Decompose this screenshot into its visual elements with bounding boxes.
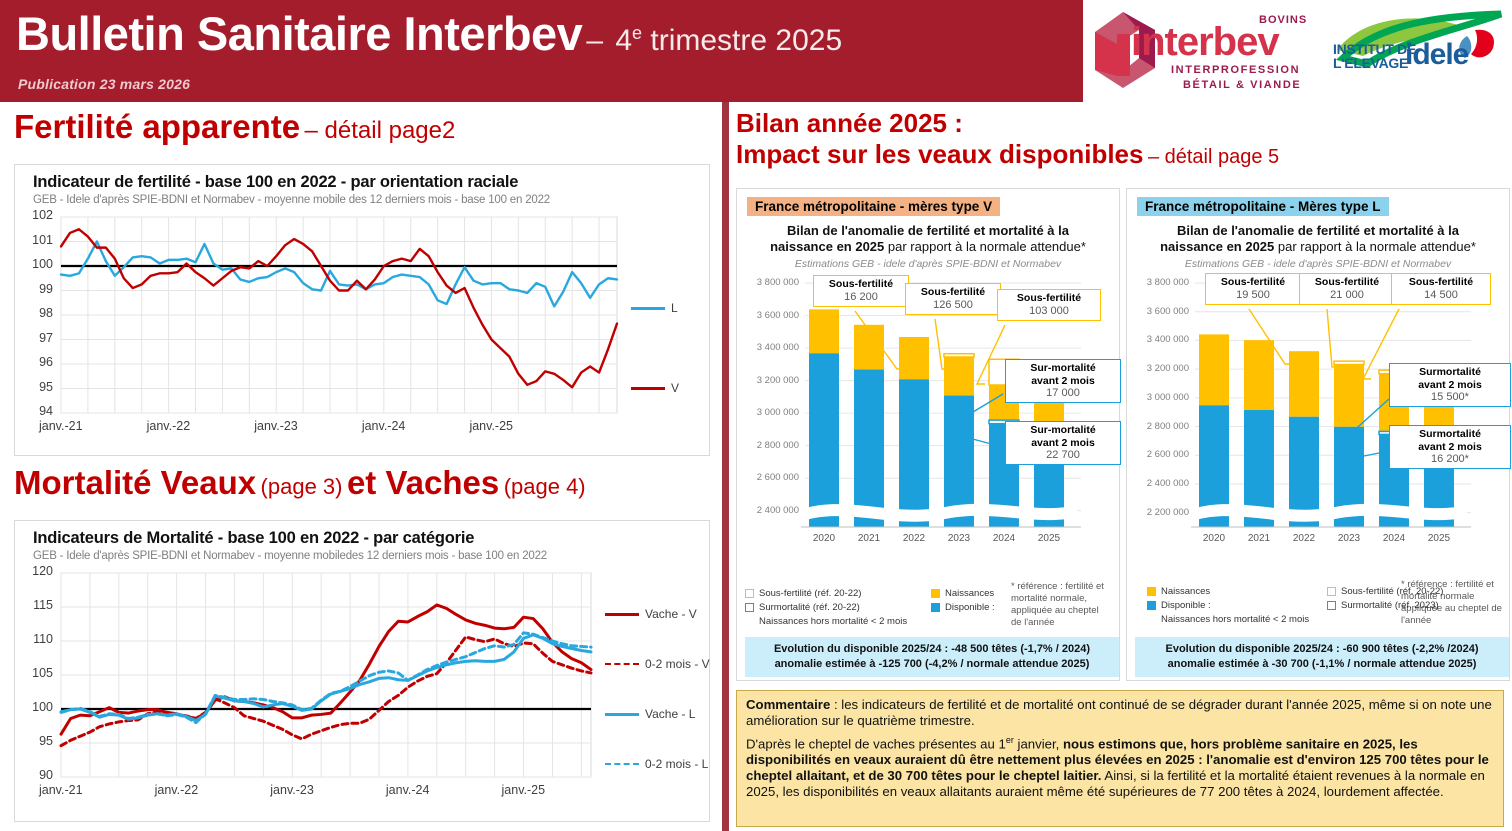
interbev-wordmark: interbev (1131, 20, 1279, 65)
panel-v-evolution-l1: Evolution du disponible 2025/24 : -48 50… (749, 642, 1115, 657)
callout-value: 14 500 (1397, 289, 1485, 302)
callout-value: 126 500 (911, 299, 995, 312)
mortalite-xtick: janv.-21 (39, 783, 83, 797)
fertilite-ytick: 102 (15, 208, 53, 222)
legend-swatch-icon (745, 603, 754, 612)
mortalite-legend-item[interactable]: 0-2 mois - V (605, 657, 710, 671)
mortalite-ytick: 120 (15, 564, 53, 578)
legend-swatch-icon (1327, 601, 1336, 610)
section-title-bilan: Bilan année 2025 : Impact sur les veaux … (736, 108, 1279, 170)
legend-item-2[interactable]: Naissances (931, 587, 1113, 601)
legend-item-0[interactable]: Naissances (1147, 585, 1323, 599)
mortalite-ytick: 115 (15, 598, 53, 612)
fertilite-svg (15, 209, 709, 449)
legend-grid: Sous-fertilité (réf. 20-22)NaissancesSur… (745, 587, 1113, 615)
bilan-v-ytick: 2 800 000 (737, 440, 799, 451)
callout-title2: avant 2 mois (1011, 437, 1115, 450)
bilan-v-xcat: 2021 (848, 533, 890, 544)
callout-value: 15 500* (1395, 391, 1505, 404)
bar-segment-disponible (899, 379, 929, 527)
mortalite-legend-item[interactable]: Vache - V (605, 607, 697, 621)
legend-swatch-icon (605, 613, 639, 616)
callout-title: Surmortalité (1395, 428, 1505, 441)
callout-sous-fertilite-2024: Sous-fertilité126 500 (905, 283, 1001, 315)
fertilite-xtick: janv.-24 (362, 419, 406, 433)
fertilite-legend-item[interactable]: V (631, 381, 679, 395)
bar-segment-disponible (854, 370, 884, 527)
legend-swatch-icon (1147, 587, 1156, 596)
legend-note: Naissances hors mortalité < 2 mois (1161, 614, 1503, 625)
mortalite-ytick: 100 (15, 700, 53, 714)
callout-surmortalite-2024: Surmortalitéavant 2 mois15 500* (1389, 363, 1511, 407)
legend-label: Surmortalité (réf. 20-22) (759, 601, 860, 615)
section-title-mortalite-page3: (page 3) (261, 474, 343, 499)
mortalite-legend-item[interactable]: Vache - L (605, 707, 695, 721)
chart-mortalite-subtitle: GEB - Idele d'après SPIE-BDNI et Normabe… (33, 550, 709, 562)
bilan-v-ytick: 2 400 000 (737, 505, 799, 516)
fertilite-xtick: janv.-22 (147, 419, 191, 433)
callout-sous-fertilite-2024: Sous-fertilité21 000 (1299, 273, 1395, 305)
legend-swatch-icon (631, 387, 665, 390)
bar-segment-naissances (1199, 334, 1229, 405)
bilan-v-xcat: 2020 (803, 533, 845, 544)
fertilite-ytick: 99 (15, 282, 53, 296)
fertilite-ytick: 100 (15, 257, 53, 271)
callout-value: 103 000 (1003, 305, 1095, 318)
bilan-l-xcat: 2020 (1193, 533, 1235, 544)
chart-fertilite-plot: 949596979899100101102janv.-21janv.-22jan… (15, 209, 709, 449)
fertilite-ytick: 101 (15, 233, 53, 247)
callout-title: Sous-fertilité (1003, 292, 1095, 305)
legend-swatch-icon (631, 307, 665, 310)
mortalite-xtick: janv.-25 (502, 783, 546, 797)
mortalite-legend-item[interactable]: 0-2 mois - L (605, 757, 708, 771)
panel-v-legend: Sous-fertilité (réf. 20-22)NaissancesSur… (745, 587, 1113, 627)
section-title-mortalite-vaches: et Vaches (347, 464, 499, 501)
section-title-mortalite: Mortalité Veaux (page 3) et Vaches (page… (14, 466, 586, 501)
callout-sur-mortalite-2025: Sur-mortalitéavant 2 mois22 700 (1005, 421, 1121, 465)
bilan-v-ytick: 3 800 000 (737, 277, 799, 288)
logo-area: interbev BOVINS INTERPROFESSION BÉTAIL &… (1083, 0, 1512, 102)
callout-value: 22 700 (1011, 449, 1115, 462)
legend-label: Vache - L (645, 707, 695, 721)
bilan-v-ytick: 3 000 000 (737, 407, 799, 418)
interbev-bovins-label: BOVINS (1259, 14, 1307, 26)
legend-label: Naissances (1161, 585, 1210, 599)
legend-label: Disponible : (945, 601, 995, 615)
fertilite-xtick: janv.-25 (469, 419, 513, 433)
bilan-l-ytick: 2 200 000 (1127, 507, 1189, 518)
bilan-v-ytick: 3 200 000 (737, 375, 799, 386)
legend-item-3[interactable]: Disponible : (931, 601, 1113, 615)
fertilite-xtick: janv.-21 (39, 419, 83, 433)
bilan-l-xcat: 2021 (1238, 533, 1280, 544)
bilan-l-ytick: 3 200 000 (1127, 363, 1189, 374)
panel-l-source: Estimations GEB - idele d'après SPIE-BDN… (1135, 258, 1501, 270)
mortalite-ytick: 110 (15, 632, 53, 646)
legend-swatch-icon (605, 763, 639, 765)
interbev-logo: interbev BOVINS INTERPROFESSION BÉTAIL &… (1087, 4, 1333, 98)
bilan-v-ytick: 3 600 000 (737, 310, 799, 321)
callout-value: 19 500 (1211, 289, 1295, 302)
callout-title: Sous-fertilité (1211, 276, 1295, 289)
section-title-bilan-l1: Bilan année 2025 : (736, 108, 1279, 139)
callout-value: 16 200 (819, 291, 903, 304)
legend-swatch-icon (745, 589, 754, 598)
panel-l-heading: Bilan de l'anomalie de fertilité et mort… (1135, 223, 1501, 270)
legend-item-1[interactable]: Disponible : (1147, 599, 1323, 613)
panel-v-source: Estimations GEB - idele d'après SPIE-BDN… (745, 258, 1111, 270)
page-header: Bulletin Sanitaire Interbev– 4e trimestr… (0, 0, 1512, 102)
bilan-v-xcat: 2023 (938, 533, 980, 544)
bilan-v-xcat: 2025 (1028, 533, 1070, 544)
legend-swatch-icon (605, 663, 639, 665)
callout-title: Sous-fertilité (911, 286, 995, 299)
chart-mortalite: Indicateurs de Mortalité - base 100 en 2… (14, 520, 710, 822)
legend-note: Naissances hors mortalité < 2 mois (759, 616, 1113, 627)
title-quarter: 4e trimestre 2025 (607, 24, 842, 57)
bulletin-page: Bulletin Sanitaire Interbev– 4e trimestr… (0, 0, 1512, 831)
section-title-fertilite: Fertilité apparente – détail page2 (14, 110, 455, 145)
legend-label: Vache - V (645, 607, 697, 621)
fertilite-ytick: 94 (15, 404, 53, 418)
panel-meres-type-l: France métropolitaine - Mères type L Bil… (1126, 188, 1510, 681)
callout-title: Sur-mortalité (1011, 362, 1115, 375)
callout-sous-fertilite-2025: Sous-fertilité14 500 (1391, 273, 1491, 305)
panel-l-heading-l2: naissance en 2025 par rapport à la norma… (1135, 239, 1501, 255)
fertilite-ytick: 96 (15, 355, 53, 369)
legend-label: L (671, 301, 678, 315)
idele-line1: INSTITUT DE (1333, 42, 1416, 56)
panel-l-evolution-l1: Evolution du disponible 2025/24 : -60 90… (1139, 642, 1505, 657)
panel-v-evolution: Evolution du disponible 2025/24 : -48 50… (745, 637, 1119, 677)
idele-logo: INSTITUT DE L'ELEVAGE idele (1333, 6, 1508, 96)
bar-segment-naissances (1244, 340, 1274, 410)
bar-segment-naissances (1334, 365, 1364, 427)
legend-item-0[interactable]: Sous-fertilité (réf. 20-22) (745, 587, 927, 601)
legend-swatch-icon (1147, 601, 1156, 610)
section-title-bilan-detail: – détail page 5 (1148, 146, 1279, 168)
bar-segment-naissances (1289, 351, 1319, 417)
fertilite-legend-item[interactable]: L (631, 301, 678, 315)
chart-fertilite-subtitle: GEB - Idele d'après SPIE-BDNI et Normabe… (33, 194, 709, 206)
bilan-v-ytick: 2 600 000 (737, 472, 799, 483)
section-title-mortalite-page4: (page 4) (504, 474, 586, 499)
mortalite-ytick: 95 (15, 734, 53, 748)
bilan-l-xcat: 2024 (1373, 533, 1415, 544)
bilan-l-ytick: 3 400 000 (1127, 334, 1189, 345)
chart-mortalite-plot: 9095100105110115120janv.-21janv.-22janv.… (15, 565, 709, 817)
panel-l-evolution-l2: anomalie estimée à -30 700 (-1,1% / norm… (1139, 657, 1505, 672)
bilan-l-ytick: 2 400 000 (1127, 478, 1189, 489)
section-title-fertilite-main: Fertilité apparente (14, 108, 300, 145)
bar-segment-naissances (899, 337, 929, 379)
legend-label: Disponible : (1161, 599, 1211, 613)
chart-fertilite: Indicateur de fertilité - base 100 en 20… (14, 164, 710, 456)
bilan-l-xcat: 2022 (1283, 533, 1325, 544)
bar-segment-disponible (809, 353, 839, 527)
bilan-l-xcat: 2025 (1418, 533, 1460, 544)
callout-title: Sous-fertilité (1397, 276, 1485, 289)
title-separator: – (586, 24, 603, 57)
callout-title: Surmortalité (1395, 366, 1505, 379)
bilan-l-ytick: 2 600 000 (1127, 449, 1189, 460)
callout-title: Sous-fertilité (819, 278, 903, 291)
panel-meres-type-v: France métropolitaine - mères type V Bil… (736, 188, 1120, 681)
panel-l-heading-l1: Bilan de l'anomalie de fertilité et mort… (1135, 223, 1501, 239)
callout-value: 17 000 (1011, 387, 1115, 400)
fertilite-ytick: 97 (15, 331, 53, 345)
legend-label: 0-2 mois - L (645, 757, 708, 771)
callout-sous-fertilite-2025: Sous-fertilité103 000 (997, 289, 1101, 321)
bar-segment-sous-fertilite (944, 354, 974, 357)
callout-sous-fertilite-2023: Sous-fertilité19 500 (1205, 273, 1301, 305)
legend-item-1[interactable]: Surmortalité (réf. 20-22) (745, 601, 927, 615)
panel-l-tag: France métropolitaine - Mères type L (1137, 197, 1389, 216)
callout-sur-mortalite-2024: Sur-mortalitéavant 2 mois17 000 (1005, 359, 1121, 403)
legend-swatch-icon (931, 589, 940, 598)
section-title-mortalite-veaux: Mortalité Veaux (14, 464, 256, 501)
commentary-paragraph-1: Commentaire : les indicateurs de fertili… (746, 697, 1494, 729)
section-title-fertilite-sub: – détail page2 (305, 117, 456, 144)
mortalite-ytick: 90 (15, 768, 53, 782)
left-column: Fertilité apparente – détail page2 Indic… (0, 102, 722, 831)
legend-label: 0-2 mois - V (645, 657, 710, 671)
callout-title: Sur-mortalité (1011, 424, 1115, 437)
bilan-v-xcat: 2022 (893, 533, 935, 544)
callout-title2: avant 2 mois (1011, 375, 1115, 388)
fertilite-ytick: 98 (15, 306, 53, 320)
section-title-bilan-l2: Impact sur les veaux disponibles (736, 139, 1143, 169)
panel-l-legend: NaissancesSous-fertilité (réf. 20-22)Dis… (1147, 585, 1503, 625)
bilan-l-ytick: 3 800 000 (1127, 277, 1189, 288)
bar-segment-naissances (944, 357, 974, 396)
mortalite-ytick: 105 (15, 666, 53, 680)
panel-v-heading-l2: naissance en 2025 par rapport à la norma… (745, 239, 1111, 255)
legend-swatch-icon (605, 713, 639, 716)
panel-v-heading-l1: Bilan de l'anomalie de fertilité et mort… (745, 223, 1111, 239)
bar-segment-naissances (854, 325, 884, 370)
bar-segment-sous-fertilite (1334, 361, 1364, 364)
legend-item-3[interactable]: Surmortalité (réf. 2023) (1327, 599, 1503, 613)
mortalite-svg (15, 565, 709, 817)
panel-l-evolution: Evolution du disponible 2025/24 : -60 90… (1135, 637, 1509, 677)
bilan-v-xcat: 2024 (983, 533, 1025, 544)
bilan-l-ytick: 3 000 000 (1127, 392, 1189, 403)
chart-fertilite-title: Indicateur de fertilité - base 100 en 20… (33, 173, 709, 192)
legend-swatch-icon (1327, 587, 1336, 596)
legend-label: Naissances (945, 587, 994, 601)
mortalite-xtick: janv.-24 (386, 783, 430, 797)
idele-wordmark: idele (1405, 38, 1468, 72)
bilan-l-ytick: 2 800 000 (1127, 421, 1189, 432)
publication-date: Publication 23 mars 2026 (18, 76, 190, 92)
panel-l-bar-chart: 3 800 0003 600 0003 400 0003 200 0003 00… (1127, 277, 1509, 557)
callout-title: Sous-fertilité (1305, 276, 1389, 289)
bilan-l-xcat: 2023 (1328, 533, 1370, 544)
panel-v-evolution-l2: anomalie estimée à -125 700 (-4,2% / nor… (749, 657, 1115, 672)
callout-title2: avant 2 mois (1395, 379, 1505, 392)
right-column: Bilan année 2025 : Impact sur les veaux … (722, 102, 1512, 831)
interbev-line1: INTERPROFESSION (1171, 64, 1300, 76)
legend-item-2[interactable]: Sous-fertilité (réf. 20-22) (1327, 585, 1503, 599)
chart-mortalite-title: Indicateurs de Mortalité - base 100 en 2… (33, 529, 709, 548)
callout-value: 21 000 (1305, 289, 1389, 302)
callout-sous-fertilite-2023: Sous-fertilité16 200 (813, 275, 909, 307)
legend-label: Sous-fertilité (réf. 20-22) (759, 587, 861, 601)
legend-label: V (671, 381, 679, 395)
mortalite-xtick: janv.-22 (155, 783, 199, 797)
legend-grid: NaissancesSous-fertilité (réf. 20-22)Dis… (1147, 585, 1503, 613)
panel-v-heading: Bilan de l'anomalie de fertilité et mort… (745, 223, 1111, 270)
bar-segment-naissances (809, 309, 839, 353)
bilan-l-ytick: 3 600 000 (1127, 306, 1189, 317)
mortalite-xtick: janv.-23 (270, 783, 314, 797)
commentary-paragraph-2: D'après le cheptel de vaches présentes a… (746, 735, 1494, 800)
callout-value: 16 200* (1395, 453, 1505, 466)
panel-v-tag: France métropolitaine - mères type V (747, 197, 1000, 216)
fertilite-ytick: 95 (15, 380, 53, 394)
bilan-v-ytick: 3 400 000 (737, 342, 799, 353)
interbev-line2: BÉTAIL & VIANDE (1183, 79, 1301, 91)
legend-label: Surmortalité (réf. 2023) (1341, 599, 1439, 613)
title-main: Bulletin Sanitaire Interbev (16, 7, 582, 60)
idele-line2: L'ELEVAGE (1333, 56, 1408, 70)
page-title: Bulletin Sanitaire Interbev– 4e trimestr… (16, 6, 842, 61)
callout-title2: avant 2 mois (1395, 441, 1505, 454)
legend-swatch-icon (931, 603, 940, 612)
fertilite-xtick: janv.-23 (254, 419, 298, 433)
legend-label: Sous-fertilité (réf. 20-22) (1341, 585, 1443, 599)
callout-surmortalite-2025: Surmortalitéavant 2 mois16 200* (1389, 425, 1511, 469)
commentary-box: Commentaire : les indicateurs de fertili… (736, 690, 1504, 827)
